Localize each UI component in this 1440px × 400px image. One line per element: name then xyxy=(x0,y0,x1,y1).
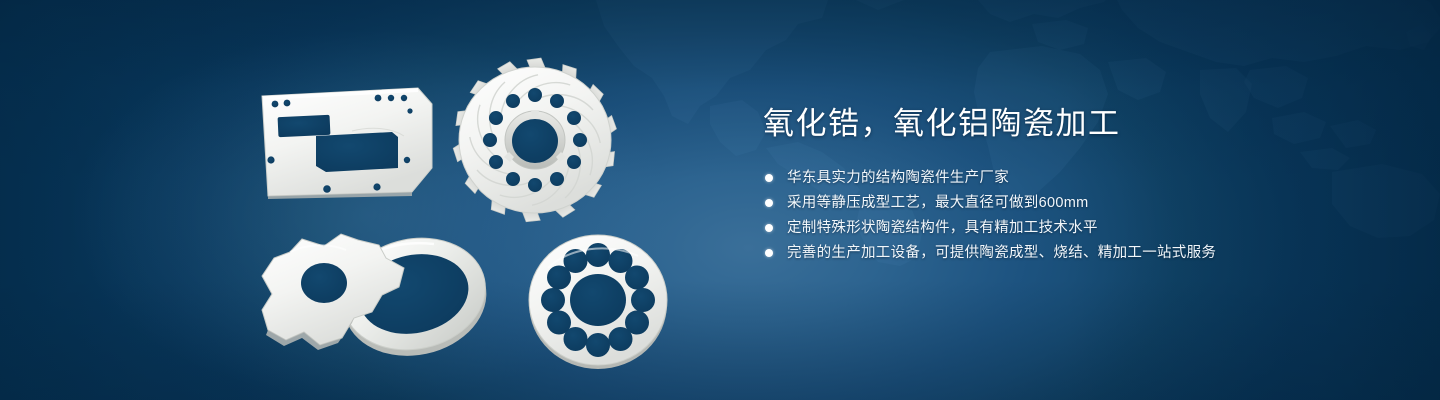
bullet-dot-icon xyxy=(765,199,773,207)
banner-copy: 氧化锆，氧化铝陶瓷加工 华东具实力的结构陶瓷件生产厂家 采用等静压成型工艺，最大… xyxy=(763,104,1383,266)
feature-item: 完善的生产加工设备，可提供陶瓷成型、烧结、精加工一站式服务 xyxy=(763,241,1383,265)
feature-item-label: 华东具实力的结构陶瓷件生产厂家 xyxy=(787,170,1009,186)
bullet-dot-icon xyxy=(765,224,773,232)
feature-item: 定制特殊形状陶瓷结构件，具有精加工技术水平 xyxy=(763,216,1383,240)
feature-item: 华东具实力的结构陶瓷件生产厂家 xyxy=(763,166,1383,190)
feature-item: 采用等静压成型工艺，最大直径可做到600mm xyxy=(763,191,1383,215)
bullet-dot-icon xyxy=(765,174,773,182)
bullet-dot-icon xyxy=(765,249,773,257)
feature-list: 华东具实力的结构陶瓷件生产厂家 采用等静压成型工艺，最大直径可做到600mm 定… xyxy=(763,166,1383,265)
feature-item-label: 完善的生产加工设备，可提供陶瓷成型、烧结、精加工一站式服务 xyxy=(787,245,1216,261)
feature-item-label: 采用等静压成型工艺，最大直径可做到600mm xyxy=(787,195,1088,211)
feature-item-label: 定制特殊形状陶瓷结构件，具有精加工技术水平 xyxy=(787,220,1098,236)
banner-headline: 氧化锆，氧化铝陶瓷加工 xyxy=(763,104,1383,144)
promo-banner: 氧化锆，氧化铝陶瓷加工 华东具实力的结构陶瓷件生产厂家 采用等静压成型工艺，最大… xyxy=(0,0,1440,400)
